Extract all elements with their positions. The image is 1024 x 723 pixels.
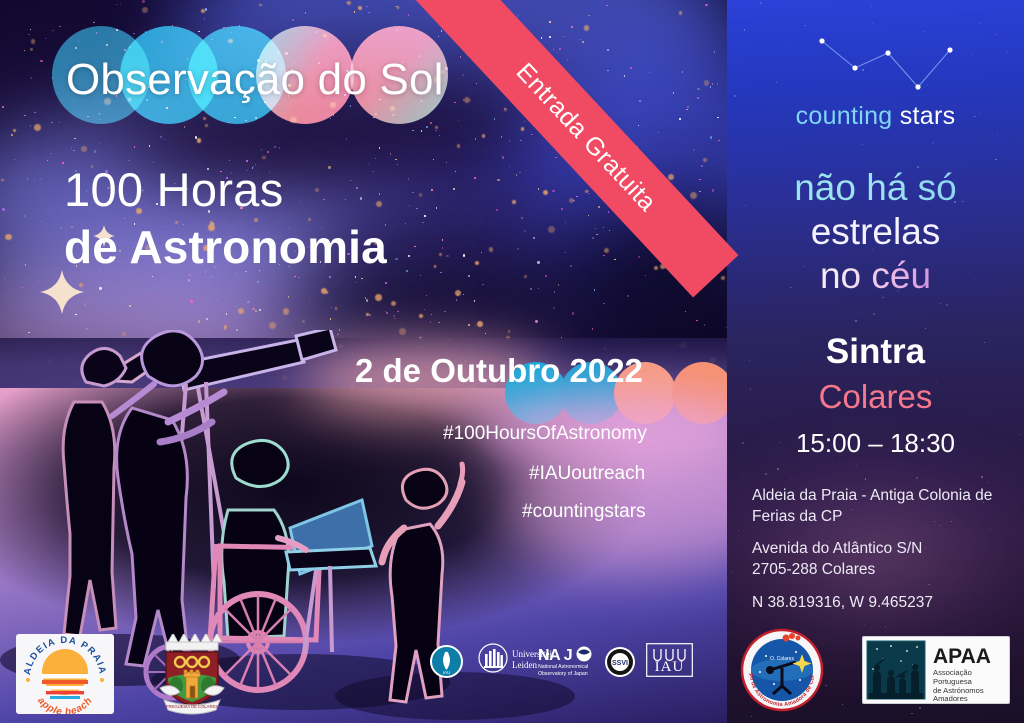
dust-mote — [504, 108, 507, 111]
star — [406, 270, 407, 271]
star — [996, 34, 997, 35]
star — [463, 294, 464, 295]
star — [693, 149, 695, 151]
star — [673, 92, 674, 93]
star — [412, 130, 413, 131]
star — [22, 287, 23, 288]
star — [438, 322, 439, 323]
star — [395, 159, 396, 160]
star — [93, 22, 94, 23]
star — [368, 163, 369, 164]
gaac-inner-label: O. Colares — [770, 656, 794, 662]
star — [305, 12, 306, 13]
star — [925, 328, 926, 329]
dust-mote — [224, 325, 227, 328]
dust-mote — [512, 200, 516, 204]
star — [25, 264, 26, 265]
star — [685, 311, 686, 312]
star — [198, 31, 199, 32]
star — [649, 72, 650, 73]
star — [84, 303, 86, 305]
star — [430, 122, 432, 124]
star — [30, 29, 31, 30]
star — [862, 144, 863, 145]
star — [412, 192, 413, 193]
star — [476, 83, 477, 84]
dust-mote — [205, 124, 208, 127]
star — [682, 71, 683, 72]
star — [247, 301, 249, 303]
star — [696, 320, 697, 321]
star — [453, 188, 454, 189]
star — [638, 125, 639, 126]
star — [34, 112, 35, 113]
apaa-line-1: Associação — [933, 668, 972, 677]
star — [206, 318, 207, 319]
star — [481, 252, 482, 253]
star — [533, 237, 534, 238]
star — [2, 208, 4, 210]
hashtag: #100HoursOfAstronomy — [443, 423, 647, 445]
star — [37, 280, 39, 282]
star — [167, 301, 168, 302]
subtitle-astronomy: de Astronomia — [64, 220, 387, 274]
star — [41, 221, 42, 222]
star — [346, 138, 347, 139]
star — [195, 136, 197, 138]
star — [872, 23, 873, 24]
star — [422, 222, 423, 223]
dust-mote — [13, 129, 16, 132]
event-date: 2 de Outubro 2022 — [355, 352, 643, 390]
star — [198, 320, 200, 322]
star — [520, 140, 521, 141]
star — [516, 174, 517, 175]
star — [734, 95, 736, 97]
star — [456, 299, 457, 300]
dust-mote — [321, 288, 327, 294]
tagline-line-3: no céu — [727, 254, 1024, 298]
star — [188, 279, 190, 281]
star — [911, 713, 912, 714]
star — [331, 307, 332, 308]
star — [424, 215, 425, 216]
dust-mote — [81, 146, 87, 152]
star — [609, 230, 610, 231]
star — [426, 295, 427, 296]
star — [521, 217, 523, 219]
dust-mote — [584, 25, 590, 31]
star — [603, 255, 604, 256]
tagline: não há só estrelas no céu — [727, 166, 1024, 298]
star — [259, 309, 261, 311]
star — [360, 197, 362, 199]
artwork-panel: Observação do Sol 100 Horas de Astronomi… — [0, 0, 727, 723]
sparkle-icon — [40, 270, 84, 314]
dust-mote — [1, 179, 4, 182]
star — [454, 102, 455, 103]
star — [366, 6, 367, 7]
star — [257, 281, 258, 282]
star — [570, 265, 571, 266]
logo-grupo-astronomia-colares: O. Colares Grupo de Astronomia Amadora d… — [740, 628, 824, 712]
star — [330, 318, 331, 319]
star — [204, 18, 205, 19]
star — [24, 115, 25, 116]
star — [462, 74, 463, 75]
star — [59, 26, 60, 27]
star — [386, 312, 387, 313]
star — [639, 100, 641, 102]
star — [24, 215, 25, 216]
dust-mote — [435, 126, 438, 129]
dust-mote — [142, 7, 148, 13]
star — [595, 228, 596, 229]
star — [409, 205, 410, 206]
star — [267, 151, 268, 152]
star — [460, 56, 461, 57]
star — [30, 48, 32, 50]
star — [24, 50, 25, 51]
star — [439, 135, 440, 136]
star — [390, 153, 391, 154]
star — [299, 201, 300, 202]
hashtag: #countingstars — [522, 501, 646, 523]
poster-root: Observação do Sol 100 Horas de Astronomi… — [0, 0, 1024, 723]
star — [855, 320, 857, 322]
star — [133, 33, 134, 34]
logo-aldeia-da-praia: ALDEIA DA PRAIA apple beach — [16, 634, 114, 714]
star — [701, 165, 702, 166]
star — [524, 230, 526, 232]
star — [502, 156, 504, 158]
star — [279, 147, 280, 148]
dust-mote — [703, 158, 707, 162]
star — [129, 305, 130, 306]
star — [73, 150, 74, 151]
star — [556, 51, 557, 52]
star — [211, 276, 212, 277]
star — [184, 126, 185, 127]
star — [330, 118, 331, 119]
dust-mote — [521, 127, 524, 130]
locality-name: Colares — [727, 378, 1024, 416]
star — [744, 29, 746, 31]
star — [326, 211, 327, 212]
star — [457, 294, 458, 295]
naoj-abbr: NA J — [538, 647, 572, 664]
star — [687, 106, 688, 107]
star — [987, 141, 988, 142]
star — [34, 179, 35, 180]
star — [710, 86, 711, 87]
star — [580, 39, 581, 40]
star — [395, 6, 396, 7]
star — [252, 308, 254, 310]
star — [946, 304, 948, 306]
star — [553, 307, 554, 308]
coat-of-arms-label: FREGUESIA DE COLARES — [166, 704, 218, 709]
star — [504, 108, 505, 109]
venue-address: Aldeia da Praia - Antiga Colonia de Feri… — [752, 485, 1012, 527]
star — [397, 164, 398, 165]
star — [592, 237, 593, 238]
star — [606, 5, 607, 6]
star — [475, 138, 476, 139]
star — [494, 118, 495, 119]
star — [372, 171, 373, 172]
dust-mote — [259, 4, 262, 7]
star — [468, 275, 469, 276]
star — [458, 120, 459, 121]
star — [470, 100, 471, 101]
naoj-line-2: Observatory of Japan — [538, 671, 588, 677]
star — [997, 133, 998, 134]
star — [329, 276, 330, 277]
star — [517, 248, 519, 250]
star — [151, 296, 152, 297]
star — [598, 206, 599, 207]
star — [368, 12, 369, 13]
star — [541, 37, 542, 38]
star — [47, 160, 48, 161]
star — [686, 109, 687, 110]
star — [160, 136, 161, 137]
star — [74, 138, 75, 139]
star — [474, 177, 475, 178]
iau-wordmark: IAU — [655, 659, 685, 675]
star — [704, 324, 705, 325]
dust-mote — [548, 226, 555, 233]
star — [538, 188, 539, 189]
dust-mote — [326, 291, 329, 294]
star — [426, 126, 427, 127]
dust-mote — [679, 11, 683, 15]
dust-mote — [391, 301, 396, 306]
dust-mote — [543, 190, 548, 195]
star — [517, 15, 518, 16]
star — [572, 312, 574, 314]
star — [444, 311, 445, 312]
star — [59, 122, 60, 123]
dust-mote — [79, 283, 83, 287]
star — [346, 2, 347, 3]
dust-mote — [269, 322, 276, 329]
star — [420, 275, 421, 276]
star — [433, 159, 434, 160]
dust-mote — [397, 6, 399, 8]
star — [558, 284, 559, 285]
star — [365, 297, 366, 298]
star — [596, 234, 597, 235]
star — [588, 193, 589, 194]
star — [30, 125, 31, 126]
dust-mote — [475, 261, 479, 265]
star — [576, 196, 577, 197]
star — [989, 151, 990, 152]
star — [871, 6, 872, 7]
star — [274, 146, 275, 147]
star — [397, 311, 398, 312]
star — [142, 0, 144, 2]
star — [394, 318, 395, 319]
star — [714, 51, 715, 52]
dust-mote — [482, 134, 485, 137]
star — [408, 14, 409, 15]
star — [189, 274, 190, 275]
star — [565, 252, 566, 253]
star — [405, 223, 406, 224]
star — [124, 218, 125, 219]
star — [638, 256, 639, 257]
star — [475, 325, 476, 326]
star — [712, 189, 714, 191]
star — [501, 136, 502, 137]
star — [355, 276, 356, 277]
star — [751, 716, 752, 717]
star — [549, 36, 550, 37]
star — [379, 147, 380, 148]
star — [509, 166, 510, 167]
star — [535, 320, 537, 322]
star — [712, 83, 713, 84]
logo-apaa: APAA Associação Portuguesa de Astrónomos… — [862, 636, 1010, 704]
star — [164, 139, 165, 140]
star — [149, 145, 150, 146]
star — [932, 142, 934, 144]
star — [50, 209, 51, 210]
star — [463, 254, 465, 256]
star — [614, 259, 615, 260]
dust-mote — [238, 308, 244, 314]
dust-mote — [721, 276, 725, 280]
star — [519, 172, 520, 173]
star — [862, 313, 863, 314]
star — [571, 26, 572, 27]
page-title: Observação do Sol — [66, 55, 444, 105]
star — [416, 208, 417, 209]
star — [497, 179, 499, 181]
star — [150, 294, 151, 295]
star — [379, 193, 380, 194]
star — [727, 419, 728, 420]
star — [431, 314, 432, 315]
star — [538, 288, 539, 289]
star — [361, 278, 362, 279]
star — [496, 209, 498, 211]
star — [355, 282, 356, 283]
dust-mote — [668, 174, 674, 180]
star — [216, 300, 217, 301]
star — [356, 187, 357, 188]
star — [350, 105, 351, 106]
star — [424, 309, 425, 310]
star — [75, 314, 76, 315]
star — [440, 272, 441, 273]
star — [555, 157, 556, 158]
star — [120, 3, 121, 4]
star — [587, 190, 588, 191]
dust-mote — [376, 201, 382, 207]
apaa-line-2: Portuguesa — [933, 677, 973, 686]
logo-iau-badge: IAU — [430, 645, 463, 678]
star — [354, 11, 355, 12]
star — [408, 255, 409, 256]
star — [152, 276, 153, 277]
star — [842, 704, 843, 705]
star — [760, 2, 762, 4]
star — [436, 207, 437, 208]
naoj-line-1: National Astronomical — [538, 664, 588, 670]
star — [553, 49, 554, 50]
star — [414, 246, 415, 247]
star — [530, 288, 531, 289]
star — [4, 278, 5, 279]
star — [345, 199, 346, 200]
star — [430, 321, 431, 322]
brand-word-stars: stars — [893, 102, 956, 130]
star — [99, 317, 100, 318]
star — [573, 200, 574, 201]
star — [627, 295, 628, 296]
star — [30, 77, 31, 78]
star — [919, 707, 921, 709]
star — [45, 38, 46, 39]
dust-mote — [315, 188, 319, 192]
star — [385, 282, 386, 283]
star — [607, 70, 608, 71]
logo-iau: IAU — [646, 643, 693, 677]
brand-word-counting: counting — [796, 102, 893, 130]
star — [717, 117, 718, 118]
star — [455, 171, 456, 172]
dust-mote — [704, 80, 709, 85]
dust-mote — [439, 253, 442, 256]
street-address: Avenida do Atlântico S/N 2705-288 Colare… — [752, 538, 1012, 580]
star — [608, 211, 609, 212]
star — [776, 82, 777, 83]
dust-mote — [690, 192, 697, 199]
star — [552, 190, 554, 192]
star — [99, 287, 101, 289]
star — [588, 215, 589, 216]
star — [971, 54, 972, 55]
star — [431, 189, 432, 190]
star — [435, 130, 436, 131]
star — [14, 159, 15, 160]
brand-logo: counting stars — [727, 102, 1024, 131]
star — [421, 130, 422, 131]
star — [288, 296, 289, 297]
star — [51, 122, 52, 123]
dust-mote — [5, 234, 12, 241]
star — [2, 106, 3, 107]
dust-mote — [358, 6, 362, 10]
tagline-line-1: não há só — [727, 166, 1024, 210]
logo-ssvi: SSVI — [604, 646, 636, 678]
star — [509, 140, 510, 141]
star — [995, 159, 996, 160]
star — [567, 59, 568, 60]
dust-mote — [457, 144, 461, 148]
star — [11, 134, 13, 136]
star — [607, 49, 608, 50]
star — [545, 275, 547, 277]
star — [561, 208, 562, 209]
dust-mote — [335, 307, 338, 310]
dust-mote — [197, 138, 202, 143]
street-line-2: 2705-288 Colares — [752, 559, 1012, 580]
